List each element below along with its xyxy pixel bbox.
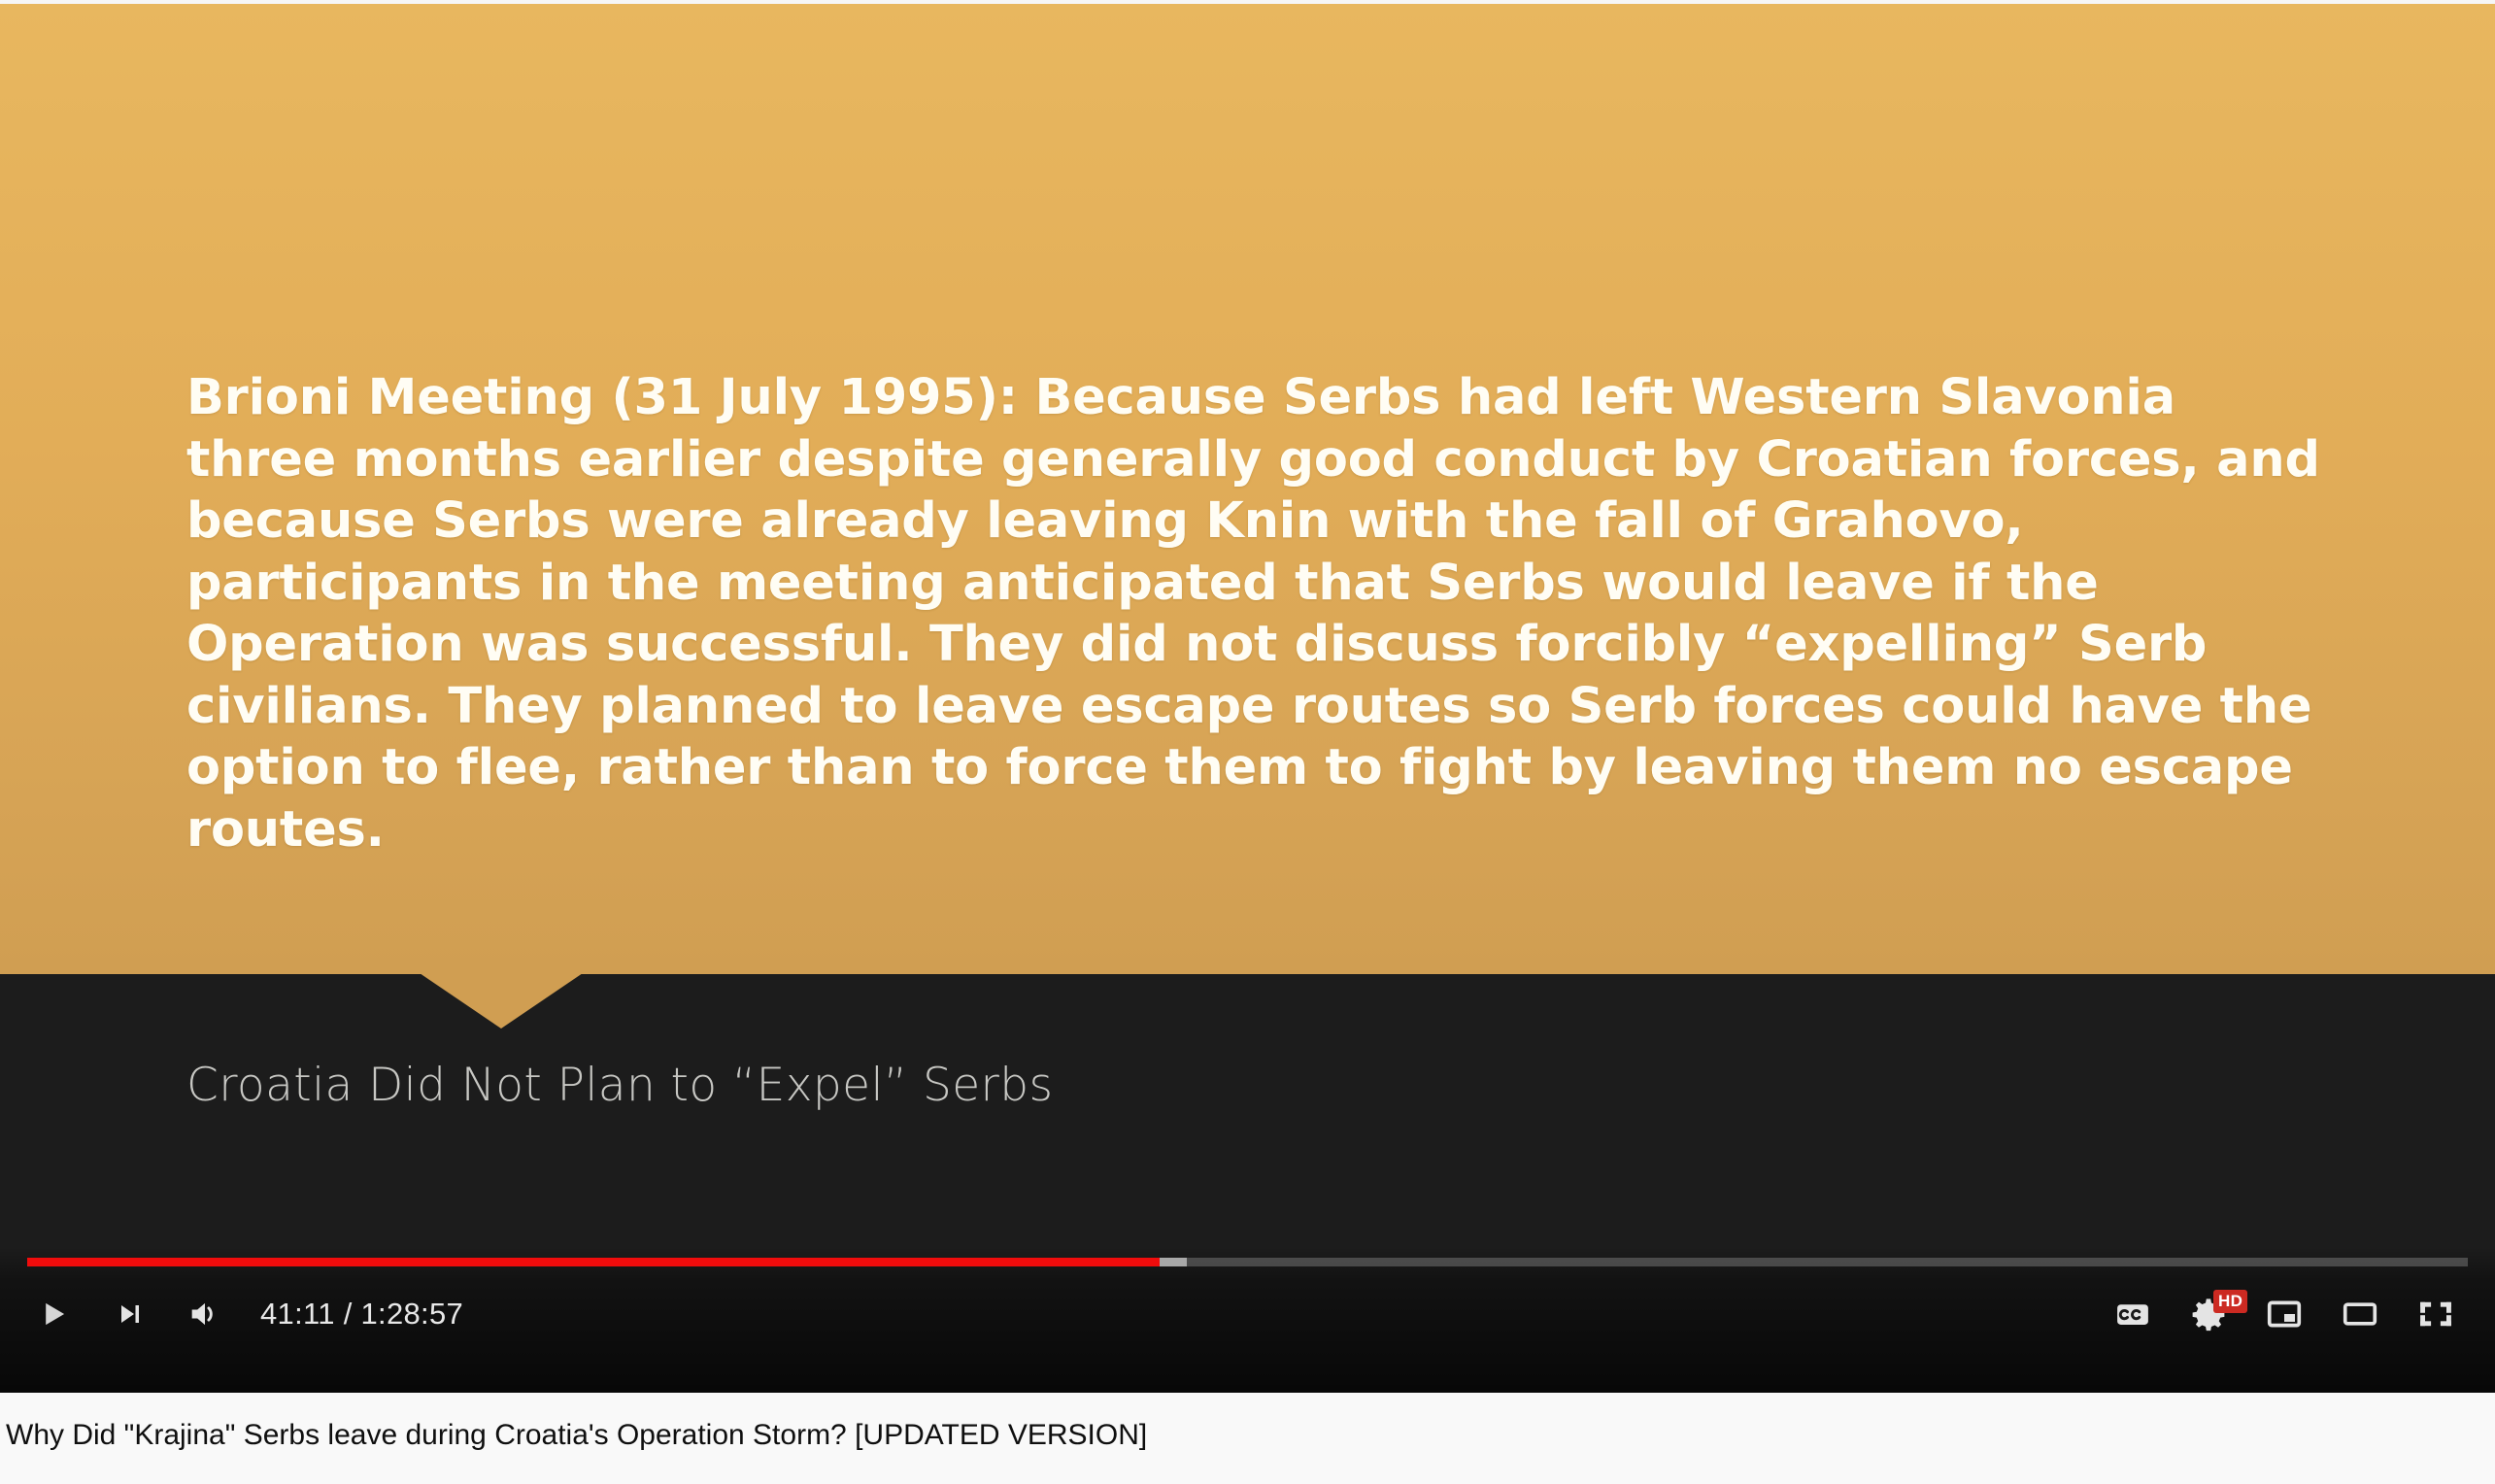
slide-callout-tail-icon [420, 973, 583, 1029]
video-player[interactable]: Brioni Meeting (31 July 1995): Because S… [0, 0, 2495, 1393]
player-top-edge [0, 0, 2495, 4]
next-video-button[interactable] [91, 1276, 167, 1352]
subtitles-cc-button[interactable] [2095, 1276, 2171, 1352]
hd-quality-badge: HD [2213, 1290, 2247, 1313]
time-display: 41:11 / 1:28:57 [243, 1276, 477, 1352]
play-button[interactable] [16, 1276, 91, 1352]
miniplayer-button[interactable] [2246, 1276, 2322, 1352]
video-frame: Brioni Meeting (31 July 1995): Because S… [0, 0, 2495, 1306]
left-controls: 41:11 / 1:28:57 [16, 1276, 477, 1352]
video-title: Why Did "Krajina" Serbs leave during Cro… [6, 1416, 1147, 1455]
settings-gear-button[interactable]: HD [2171, 1276, 2246, 1352]
slide-subtitle-text: Croatia Did Not Plan to “Expel” Serbs [186, 1059, 1053, 1113]
youtube-watch-page: Brioni Meeting (31 July 1995): Because S… [0, 0, 2495, 1484]
slide-caption-text: Brioni Meeting (31 July 1995): Because S… [186, 367, 2333, 860]
volume-button[interactable] [167, 1276, 243, 1352]
fullscreen-button[interactable] [2398, 1276, 2474, 1352]
progress-bar[interactable] [27, 1258, 2468, 1266]
player-control-bar: 41:11 / 1:28:57 HD [0, 1247, 2495, 1393]
progress-played [27, 1258, 1160, 1266]
theater-mode-button[interactable] [2322, 1276, 2398, 1352]
right-controls: HD [2095, 1276, 2474, 1352]
